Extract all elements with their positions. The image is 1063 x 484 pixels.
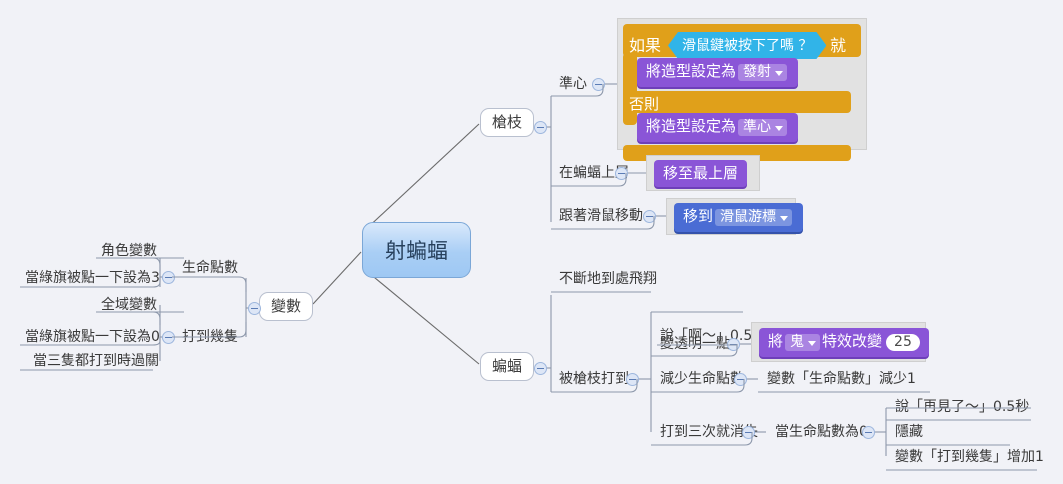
- set-costume-fire-block[interactable]: 將造型設定為發射: [637, 58, 798, 87]
- hit-child-fade-label: 變透明一點: [660, 336, 730, 352]
- when-hp-zero[interactable]: 當生命點數為0: [772, 423, 871, 443]
- go-to-front-label: 移至最上層: [663, 164, 738, 182]
- life-note-sprite-variable[interactable]: 角色變數: [98, 242, 160, 262]
- variable-life-points[interactable]: 生命點數: [179, 259, 241, 279]
- scratch-script-crosshair[interactable]: 如果 滑鼠鍵被按下了嗎 ？ 就 將造型設定為發射 否則 將造型設定為準心: [617, 18, 867, 150]
- score-note-three-bats-clear[interactable]: 當三隻都打到時過關: [30, 352, 162, 372]
- chevron-down-icon: [775, 71, 783, 76]
- when-hp-zero-label: 當生命點數為0: [775, 424, 868, 440]
- branch-gun-label: 槍枝: [480, 108, 534, 137]
- costume-dropdown-crosshair[interactable]: 準心: [738, 119, 787, 136]
- hp-zero-child-say-bye[interactable]: 說「再見了～」0.5秒: [892, 398, 1032, 418]
- collapse-icon-fade[interactable]: [727, 338, 740, 351]
- score-note-three-bats-clear-label: 當三隻都打到時過關: [33, 353, 159, 369]
- go-to-target-value: 滑鼠游標: [720, 209, 776, 225]
- scratch-script-ghost-effect[interactable]: 將鬼特效改變25: [751, 322, 926, 362]
- collapse-icon-gun[interactable]: [534, 121, 547, 134]
- bat-child-fly-around-label: 不斷地到處飛翔: [559, 271, 657, 287]
- bat-child-hit-by-gun-label: 被槍枝打到: [559, 371, 629, 387]
- life-note-sprite-variable-label: 角色變數: [101, 243, 157, 259]
- scratch-script-go-to-mouse[interactable]: 移到滑鼠游標: [666, 198, 796, 235]
- central-topic-label: 射蝙蝠: [362, 222, 471, 278]
- branch-bat-label: 蝙蝠: [480, 352, 534, 381]
- set-costume-fire-command: 將造型設定為: [646, 62, 736, 80]
- hp-zero-child-hide[interactable]: 隱藏: [892, 423, 926, 443]
- then-keyword-label: 就: [830, 32, 846, 56]
- variable-hit-count[interactable]: 打到幾隻: [179, 328, 241, 348]
- score-note-green-flag-set0-label: 當綠旗被點一下設為0: [25, 329, 160, 345]
- gun-child-follow-mouse-label: 跟著滑鼠移動: [559, 208, 643, 224]
- hp-zero-child-hide-label: 隱藏: [895, 424, 923, 440]
- ghost-effect-prefix: 將: [768, 332, 783, 350]
- effect-dropdown-value: 鬼: [790, 334, 804, 350]
- hp-zero-child-increase-score-label: 變數「打到幾隻」增加1: [895, 449, 1044, 465]
- branch-variables-label: 變數: [259, 292, 313, 321]
- go-to-mouse-command: 移到: [683, 207, 713, 225]
- go-to-target-dropdown[interactable]: 滑鼠游標: [715, 209, 792, 226]
- bat-child-fly-around[interactable]: 不斷地到處飛翔: [556, 270, 660, 290]
- gun-child-crosshair-label: 準心: [559, 76, 587, 92]
- collapse-icon-variables[interactable]: [248, 302, 261, 315]
- costume-dropdown-fire-value: 發射: [743, 64, 771, 80]
- costume-dropdown-fire[interactable]: 發射: [738, 64, 787, 81]
- collapse-icon-above-bat[interactable]: [615, 167, 628, 180]
- hp-zero-child-say-bye-label: 說「再見了～」0.5秒: [895, 399, 1029, 415]
- else-keyword-label: 否則: [629, 93, 659, 114]
- ghost-effect-block[interactable]: 將鬼特效改變25: [759, 328, 929, 357]
- set-costume-crosshair-block[interactable]: 將造型設定為準心: [637, 113, 798, 142]
- set-costume-crosshair-command: 將造型設定為: [646, 117, 736, 135]
- if-block-spine: [623, 53, 637, 125]
- scratch-script-go-to-front[interactable]: 移至最上層: [646, 155, 760, 191]
- bat-child-hit-by-gun[interactable]: 被槍枝打到: [556, 370, 632, 390]
- ghost-effect-suffix: 特效改變: [822, 332, 882, 350]
- collapse-icon-disappear[interactable]: [742, 426, 755, 439]
- collapse-icon-crosshair[interactable]: [592, 78, 605, 91]
- mindmap-canvas[interactable]: 射蝙蝠 槍枝 準心 在蝙蝠上層 跟著滑鼠移動 如果 滑鼠鍵被按下了嗎 ？ 就 將…: [0, 0, 1063, 484]
- collapse-icon-bat[interactable]: [534, 362, 547, 375]
- hit-child-fade[interactable]: 變透明一點: [657, 335, 733, 355]
- gun-child-crosshair[interactable]: 準心: [556, 75, 590, 95]
- go-to-front-block[interactable]: 移至最上層: [654, 160, 747, 187]
- hp-zero-child-increase-score[interactable]: 變數「打到幾隻」增加1: [892, 448, 1047, 468]
- variable-hit-count-label: 打到幾隻: [182, 329, 238, 345]
- central-topic[interactable]: 射蝙蝠: [362, 222, 471, 278]
- collapse-icon-life-points[interactable]: [162, 271, 175, 284]
- chevron-down-icon: [780, 216, 788, 221]
- branch-gun[interactable]: 槍枝: [480, 108, 534, 137]
- collapse-icon-hit-count[interactable]: [162, 331, 175, 344]
- collapse-icon-when-hp-zero[interactable]: [862, 426, 875, 439]
- branch-bat[interactable]: 蝙蝠: [480, 352, 534, 381]
- life-note-green-flag-set3[interactable]: 當綠旗被點一下設為3: [22, 269, 163, 289]
- mouse-down-condition-block[interactable]: 滑鼠鍵被按下了嗎 ？: [668, 32, 826, 59]
- collapse-icon-reduce-hp[interactable]: [734, 373, 747, 386]
- hit-child-reduce-hp-label: 減少生命點數: [660, 371, 744, 387]
- chevron-down-icon: [808, 341, 816, 346]
- ghost-effect-value-input[interactable]: 25: [886, 334, 920, 351]
- score-note-global-variable[interactable]: 全域變數: [98, 296, 160, 316]
- costume-dropdown-crosshair-value: 準心: [743, 119, 771, 135]
- branch-variables[interactable]: 變數: [259, 292, 313, 321]
- reduce-hp-note-label: 變數「生命點數」減少1: [767, 371, 916, 387]
- variable-life-points-label: 生命點數: [182, 260, 238, 276]
- score-note-green-flag-set0[interactable]: 當綠旗被點一下設為0: [22, 328, 163, 348]
- reduce-hp-note[interactable]: 變數「生命點數」減少1: [764, 370, 919, 390]
- effect-dropdown[interactable]: 鬼: [785, 334, 820, 351]
- gun-child-follow-mouse[interactable]: 跟著滑鼠移動: [556, 207, 646, 227]
- chevron-down-icon: [775, 126, 783, 131]
- go-to-mouse-block[interactable]: 移到滑鼠游標: [674, 203, 803, 232]
- score-note-global-variable-label: 全域變數: [101, 297, 157, 313]
- life-note-green-flag-set3-label: 當綠旗被點一下設為3: [25, 270, 160, 286]
- collapse-icon-hit-by-gun[interactable]: [626, 373, 639, 386]
- collapse-icon-follow-mouse[interactable]: [643, 210, 656, 223]
